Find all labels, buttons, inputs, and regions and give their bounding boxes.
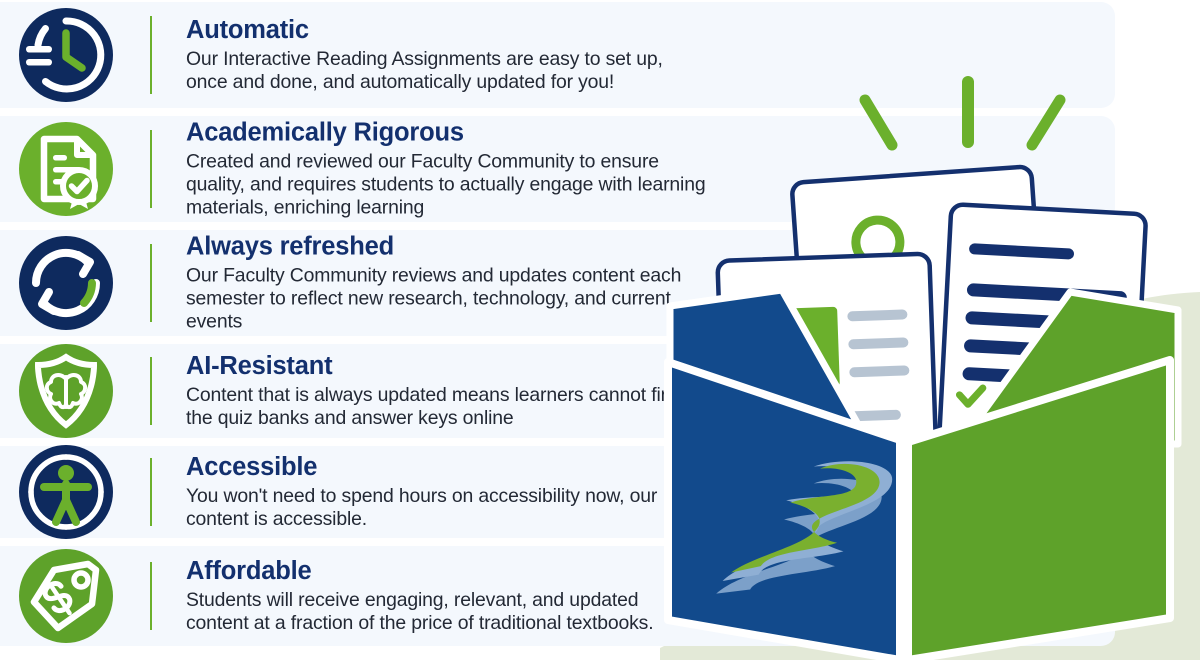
row-divider <box>150 357 152 425</box>
feature-text: AI-Resistant Content that is always upda… <box>186 352 706 430</box>
feature-description: Students will receive engaging, relevant… <box>186 589 706 635</box>
feature-text: Automatic Our Interactive Reading Assign… <box>186 16 706 94</box>
feature-title: Accessible <box>186 453 706 482</box>
feature-description: Our Faculty Community reviews and update… <box>186 264 706 333</box>
accessibility-person-icon <box>14 440 118 544</box>
feature-title: AI-Resistant <box>186 352 706 381</box>
price-tag-dollar-icon <box>14 544 118 648</box>
refresh-arrows-icon <box>14 231 118 335</box>
feature-title: Automatic <box>186 16 706 45</box>
feature-text: Accessible You won't need to spend hours… <box>186 453 706 531</box>
row-divider <box>150 562 152 630</box>
feature-description: Created and reviewed our Faculty Communi… <box>186 150 706 219</box>
clock-speed-icon <box>14 3 118 107</box>
feature-title: Always refreshed <box>186 233 706 262</box>
feature-description: You won't need to spend hours on accessi… <box>186 485 706 531</box>
row-divider <box>150 458 152 526</box>
open-box-illustration <box>660 60 1200 660</box>
feature-text: Always refreshed Our Faculty Community r… <box>186 233 706 334</box>
feature-description: Content that is always updated means lea… <box>186 384 706 430</box>
row-divider <box>150 16 152 94</box>
shield-brain-icon <box>14 339 118 443</box>
sparkle-lines <box>865 82 1060 145</box>
feature-description: Our Interactive Reading Assignments are … <box>186 48 706 94</box>
infographic-canvas: Automatic Our Interactive Reading Assign… <box>0 0 1200 660</box>
feature-title: Affordable <box>186 557 706 586</box>
feature-text: Affordable Students will receive engagin… <box>186 557 706 635</box>
certificate-award-icon <box>14 117 118 221</box>
row-divider <box>150 130 152 208</box>
feature-title: Academically Rigorous <box>186 119 706 148</box>
row-divider <box>150 244 152 322</box>
feature-text: Academically Rigorous Created and review… <box>186 119 706 220</box>
